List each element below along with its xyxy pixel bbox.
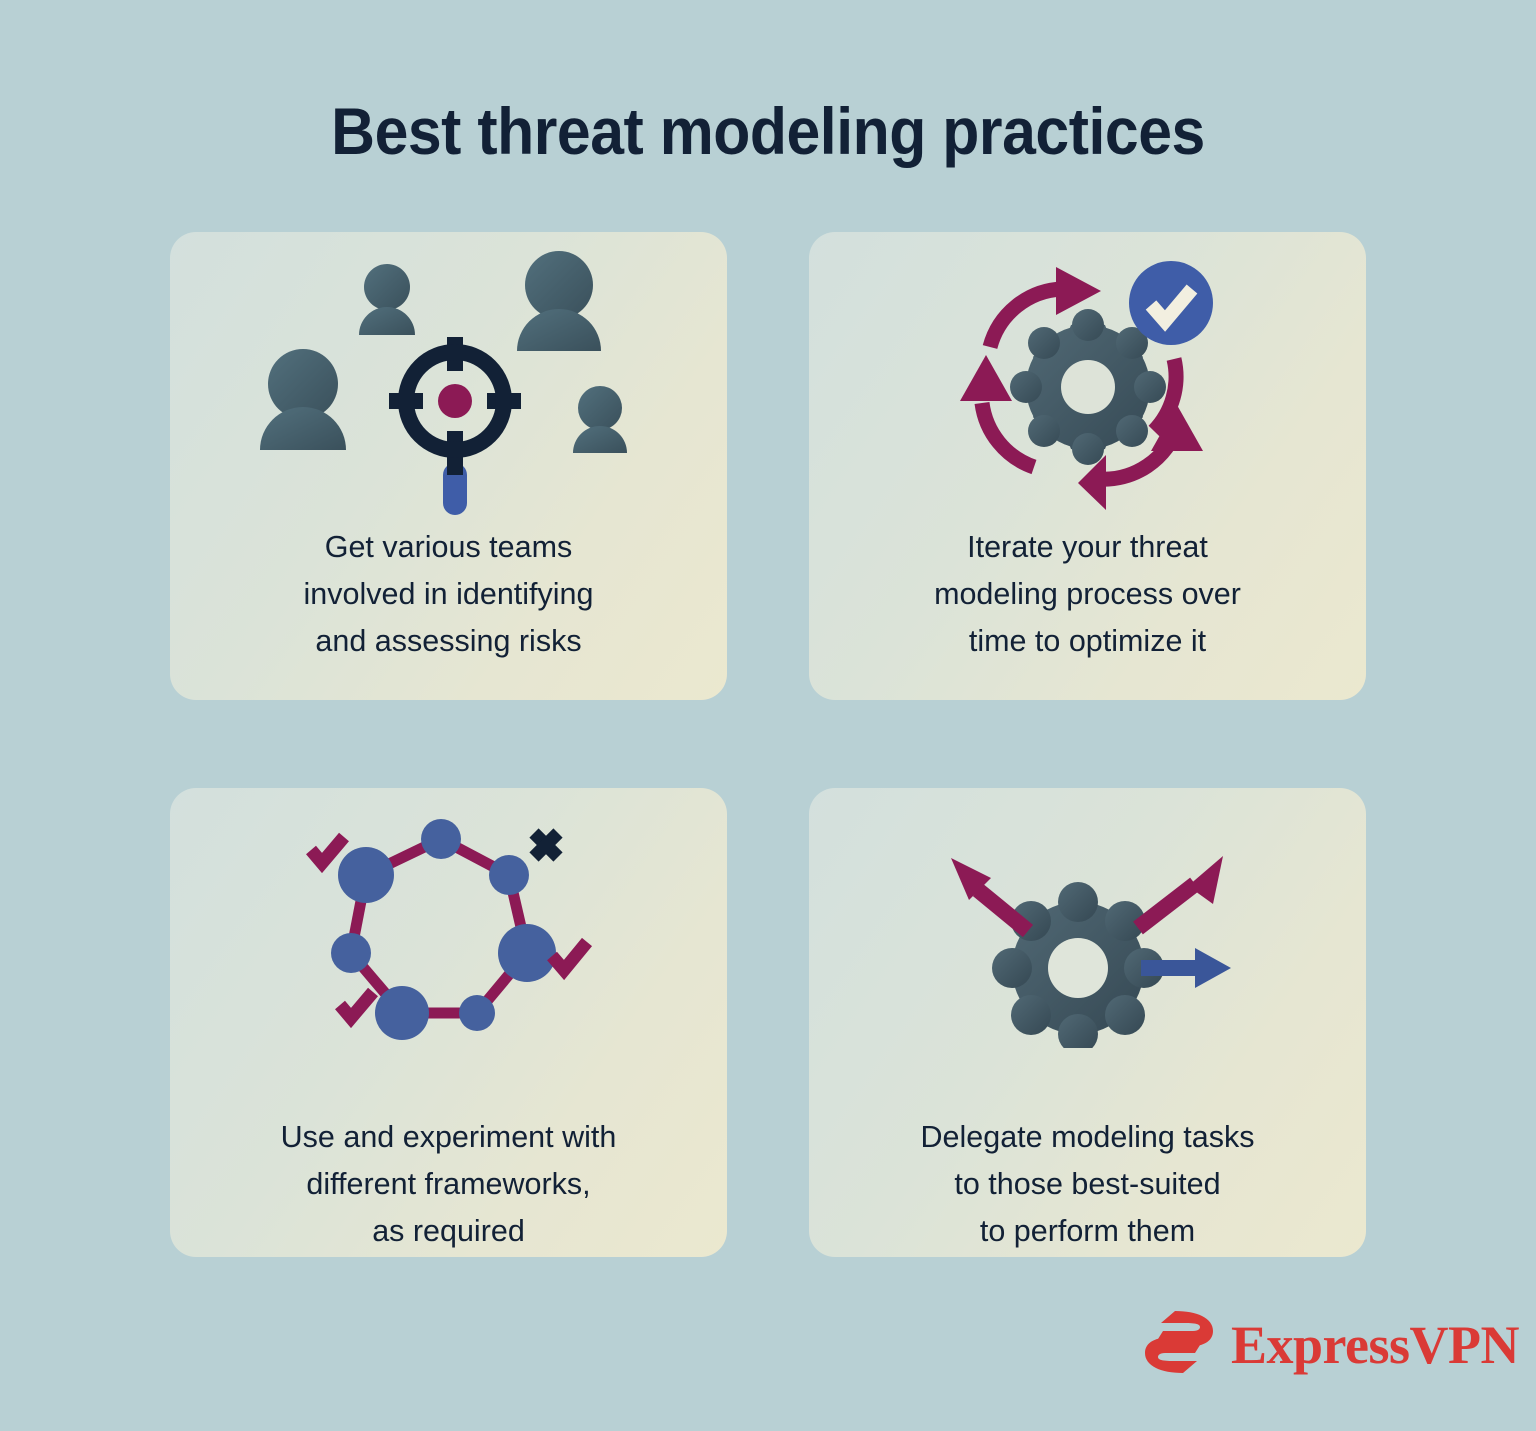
card-teams-target: Get various teams involved in identifyin… [170, 232, 727, 700]
card-frameworks-network: Use and experiment with different framew… [170, 788, 727, 1257]
card-text: Delegate modeling tasks to those best-su… [809, 1114, 1366, 1255]
card-iterate-cycle: Iterate your threat modeling process ove… [809, 232, 1366, 700]
expressvpn-e-mark-icon [1141, 1309, 1217, 1380]
card-text: Use and experiment with different framew… [170, 1114, 727, 1255]
card-text: Get various teams involved in identifyin… [170, 524, 727, 665]
expressvpn-logo[interactable]: ExpressVPN [1141, 1309, 1519, 1380]
gear-cycle-check-icon [809, 232, 1366, 532]
infographic-root: Best threat modeling practices [0, 0, 1536, 1431]
card-text: Iterate your threat modeling process ove… [809, 524, 1366, 665]
people-target-magnifier-icon [170, 232, 727, 532]
card-delegate-gear: Delegate modeling tasks to those best-su… [809, 788, 1366, 1257]
expressvpn-wordmark: ExpressVPN [1231, 1318, 1519, 1372]
practices-card-grid: Get various teams involved in identifyin… [170, 232, 1366, 1257]
network-nodes-check-cross-icon [170, 788, 727, 1088]
gear-arrows-delegate-icon [809, 788, 1366, 1088]
page-title: Best threat modeling practices [61, 93, 1474, 169]
